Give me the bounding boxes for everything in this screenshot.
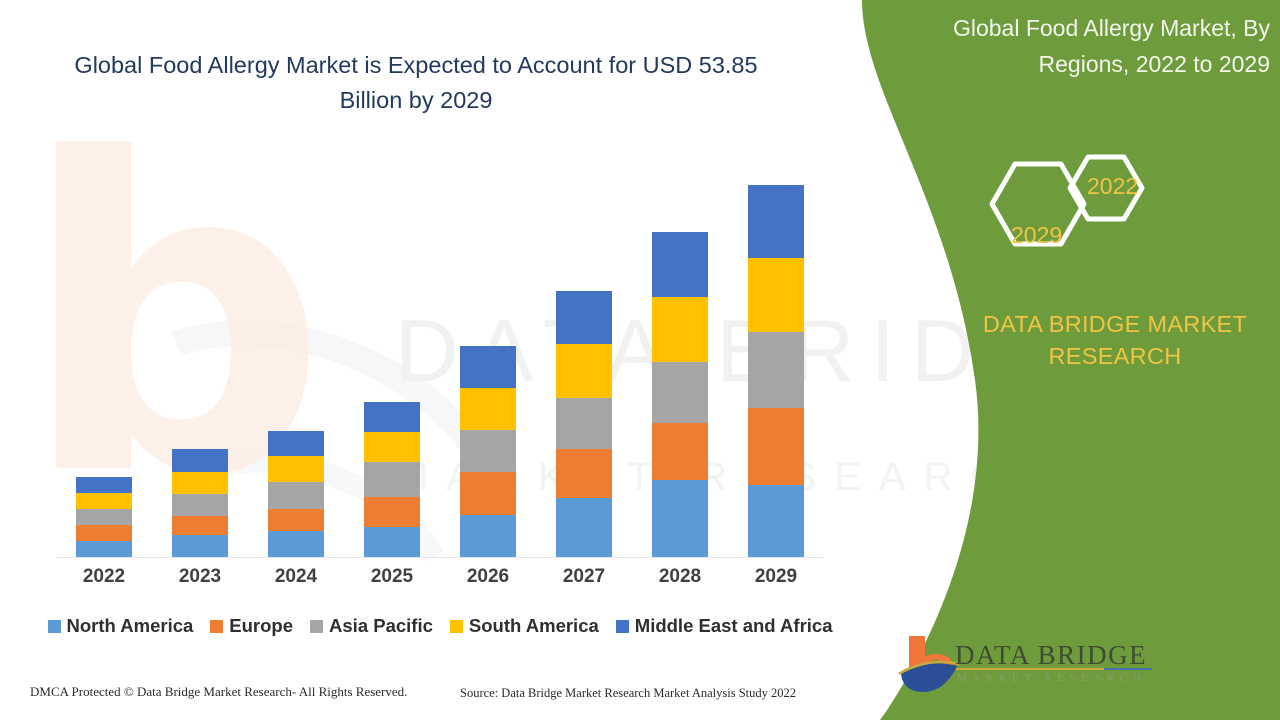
bar-segment bbox=[364, 432, 420, 462]
x-axis-label: 2024 bbox=[248, 566, 344, 588]
infographic-canvas: b DATA BRIDGE MARKET RESEARCH Global Foo… bbox=[0, 0, 1280, 720]
bar-segment bbox=[748, 332, 804, 408]
bar-segment bbox=[556, 449, 612, 498]
source-note: Source: Data Bridge Market Research Mark… bbox=[460, 686, 796, 701]
bar-column bbox=[152, 150, 248, 557]
x-axis-label: 2027 bbox=[536, 566, 632, 588]
bar-column bbox=[440, 150, 536, 557]
hexagon-label-small: 2022 bbox=[1087, 173, 1138, 200]
legend-item[interactable]: Middle East and Africa bbox=[616, 615, 833, 637]
stacked-bar bbox=[76, 477, 132, 557]
legend-item[interactable]: South America bbox=[450, 615, 599, 637]
bar-segment bbox=[172, 449, 228, 472]
bar-segment bbox=[268, 531, 324, 557]
legend-swatch-icon bbox=[48, 620, 61, 633]
legend-swatch-icon bbox=[616, 620, 629, 633]
brand-name: DATA BRIDGE MARKET RESEARCH bbox=[955, 308, 1275, 372]
stacked-bar bbox=[364, 402, 420, 557]
bar-segment bbox=[76, 541, 132, 557]
stacked-bar bbox=[172, 449, 228, 557]
bar-column bbox=[56, 150, 152, 557]
x-axis-line bbox=[56, 557, 824, 558]
legend-swatch-icon bbox=[310, 620, 323, 633]
bar-column bbox=[248, 150, 344, 557]
bar-segment bbox=[364, 527, 420, 557]
stacked-bar-chart bbox=[56, 150, 824, 557]
chart-legend: North AmericaEuropeAsia PacificSouth Ame… bbox=[56, 615, 824, 637]
x-axis-labels: 20222023202420252026202720282029 bbox=[56, 566, 824, 588]
stacked-bar bbox=[268, 431, 324, 557]
copyright-note: DMCA Protected © Data Bridge Market Rese… bbox=[30, 684, 407, 700]
bar-segment bbox=[460, 388, 516, 430]
bar-segment bbox=[364, 402, 420, 432]
bar-segment bbox=[460, 346, 516, 388]
x-axis-label: 2028 bbox=[632, 566, 728, 588]
legend-label: Asia Pacific bbox=[329, 615, 433, 637]
bar-segment bbox=[172, 494, 228, 516]
bar-segment bbox=[76, 477, 132, 493]
dbmr-logo-tagline: MARKET RESEARCH bbox=[957, 672, 1146, 684]
bar-column bbox=[728, 150, 824, 557]
bar-segment bbox=[748, 485, 804, 557]
legend-swatch-icon bbox=[210, 620, 223, 633]
bar-segment bbox=[652, 297, 708, 362]
stacked-bar bbox=[652, 232, 708, 557]
legend-item[interactable]: North America bbox=[48, 615, 194, 637]
bar-segment bbox=[268, 456, 324, 482]
page-title: Global Food Allergy Market is Expected t… bbox=[66, 48, 766, 118]
x-axis-label: 2025 bbox=[344, 566, 440, 588]
bar-segment bbox=[556, 498, 612, 557]
hexagon-badges: 2029 2022 bbox=[975, 140, 1235, 270]
dbmr-logo-name: DATA BRIDGE bbox=[955, 640, 1147, 671]
legend-item[interactable]: Asia Pacific bbox=[310, 615, 433, 637]
bar-segment bbox=[652, 480, 708, 557]
x-axis-label: 2023 bbox=[152, 566, 248, 588]
bar-segment bbox=[652, 423, 708, 480]
bar-segment bbox=[556, 291, 612, 344]
bar-segment bbox=[652, 232, 708, 297]
bar-segment bbox=[76, 509, 132, 525]
stacked-bar bbox=[460, 346, 516, 557]
bar-segment bbox=[460, 472, 516, 515]
x-axis-label: 2026 bbox=[440, 566, 536, 588]
bar-segment bbox=[556, 398, 612, 449]
dbmr-logo-rule-secondary bbox=[1104, 668, 1152, 670]
bar-segment bbox=[76, 525, 132, 541]
stacked-bar bbox=[556, 291, 612, 557]
bar-segment bbox=[172, 472, 228, 494]
bar-segment bbox=[652, 362, 708, 423]
bar-segment bbox=[172, 535, 228, 557]
bar-segment bbox=[460, 430, 516, 472]
bar-segment bbox=[556, 344, 612, 398]
dbmr-logo-rule bbox=[956, 668, 1104, 670]
bar-segment bbox=[460, 515, 516, 557]
bar-segment bbox=[748, 408, 804, 485]
legend-swatch-icon bbox=[450, 620, 463, 633]
legend-label: Middle East and Africa bbox=[635, 615, 833, 637]
hexagon-label-large: 2029 bbox=[1011, 222, 1062, 249]
x-axis-label: 2029 bbox=[728, 566, 824, 588]
bar-segment bbox=[364, 497, 420, 527]
legend-label: South America bbox=[469, 615, 599, 637]
legend-item[interactable]: Europe bbox=[210, 615, 293, 637]
bar-segment bbox=[748, 185, 804, 258]
legend-label: Europe bbox=[229, 615, 293, 637]
bar-segment bbox=[172, 516, 228, 535]
bar-segment bbox=[268, 482, 324, 509]
bar-segment bbox=[364, 462, 420, 497]
stacked-bar bbox=[748, 185, 804, 557]
bar-segment bbox=[748, 258, 804, 332]
x-axis-label: 2022 bbox=[56, 566, 152, 588]
bar-column bbox=[344, 150, 440, 557]
bar-column bbox=[632, 150, 728, 557]
bar-column bbox=[536, 150, 632, 557]
legend-label: North America bbox=[67, 615, 194, 637]
bar-segment bbox=[268, 431, 324, 456]
bar-segment bbox=[268, 509, 324, 531]
bar-segment bbox=[76, 493, 132, 509]
panel-title: Global Food Allergy Market, By Regions, … bbox=[900, 10, 1278, 82]
